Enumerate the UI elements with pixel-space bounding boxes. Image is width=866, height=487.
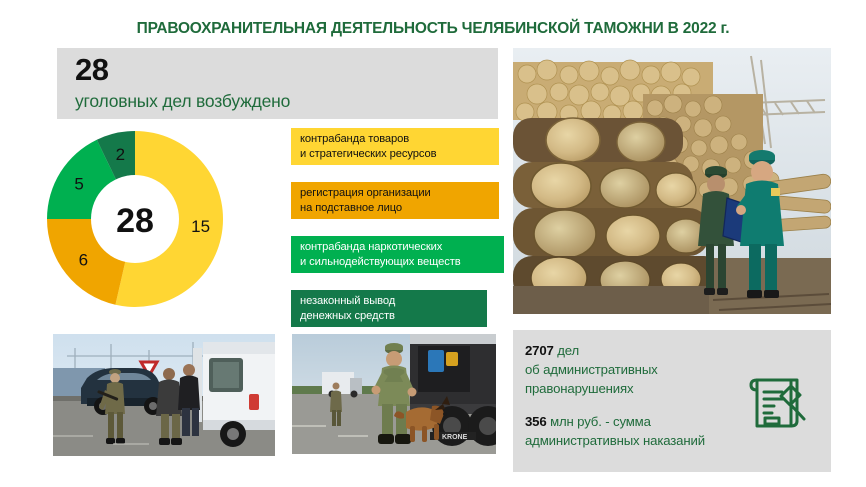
sniffer-dog-inspection-photo: KRONE — [292, 334, 496, 454]
administrative-cases-unit: дел — [554, 343, 579, 358]
donut-slice-value: 5 — [74, 174, 83, 193]
legend-item-label-line2: на подставное лицо — [300, 201, 499, 216]
donut-slice-value: 15 — [191, 217, 210, 236]
criminal-cases-donut-chart: 28 15652 — [45, 129, 225, 309]
legend-item-label-line1: контрабанда товаров — [300, 132, 499, 147]
criminal-cases-caption: уголовных дел возбуждено — [75, 88, 498, 114]
legend-item-drug-smuggling[interactable]: контрабанда наркотических и сильнодейств… — [291, 236, 504, 273]
svg-text:KRONE: KRONE — [442, 434, 468, 441]
legend-item-label-line2: и стратегических ресурсов — [300, 147, 499, 162]
legend-item-label-line1: незаконный вывод — [300, 294, 487, 309]
donut-slice-value: 6 — [79, 251, 88, 270]
administrative-cases-line1: 2707 дел — [525, 341, 831, 360]
legend-item-label-line2: денежных средств — [300, 309, 487, 324]
administrative-fines-number: 356 — [525, 414, 547, 429]
administrative-fines-unit: млн руб. - сумма — [547, 414, 651, 429]
legend-item-label-line1: контрабанда наркотических — [300, 240, 504, 255]
donut-slice-value: 2 — [116, 145, 125, 164]
timber-inspection-photo — [513, 48, 831, 314]
administrative-cases-number: 2707 — [525, 343, 554, 358]
page-title: ПРАВООХРАНИТЕЛЬНАЯ ДЕЯТЕЛЬНОСТЬ ЧЕЛЯБИНС… — [0, 20, 866, 38]
legend-item-illegal-money-transfer[interactable]: незаконный вывод денежных средств — [291, 290, 487, 327]
donut-center-total: 28 — [116, 202, 154, 240]
vehicle-inspection-photo — [53, 334, 275, 456]
legend-item-smuggling-goods[interactable]: контрабанда товаров и стратегических рес… — [291, 128, 499, 165]
criminal-cases-count: 28 — [75, 52, 498, 88]
criminal-cases-summary-panel: 28 уголовных дел возбуждено — [57, 48, 498, 119]
chart-legend: контрабанда товаров и стратегических рес… — [291, 128, 504, 327]
legend-item-label-line2: и сильнодействующих веществ — [300, 255, 504, 270]
legend-item-label-line1: регистрация организации — [300, 186, 499, 201]
legend-item-frontman-registration[interactable]: регистрация организации на подставное ли… — [291, 182, 499, 219]
document-gavel-icon — [739, 366, 813, 440]
